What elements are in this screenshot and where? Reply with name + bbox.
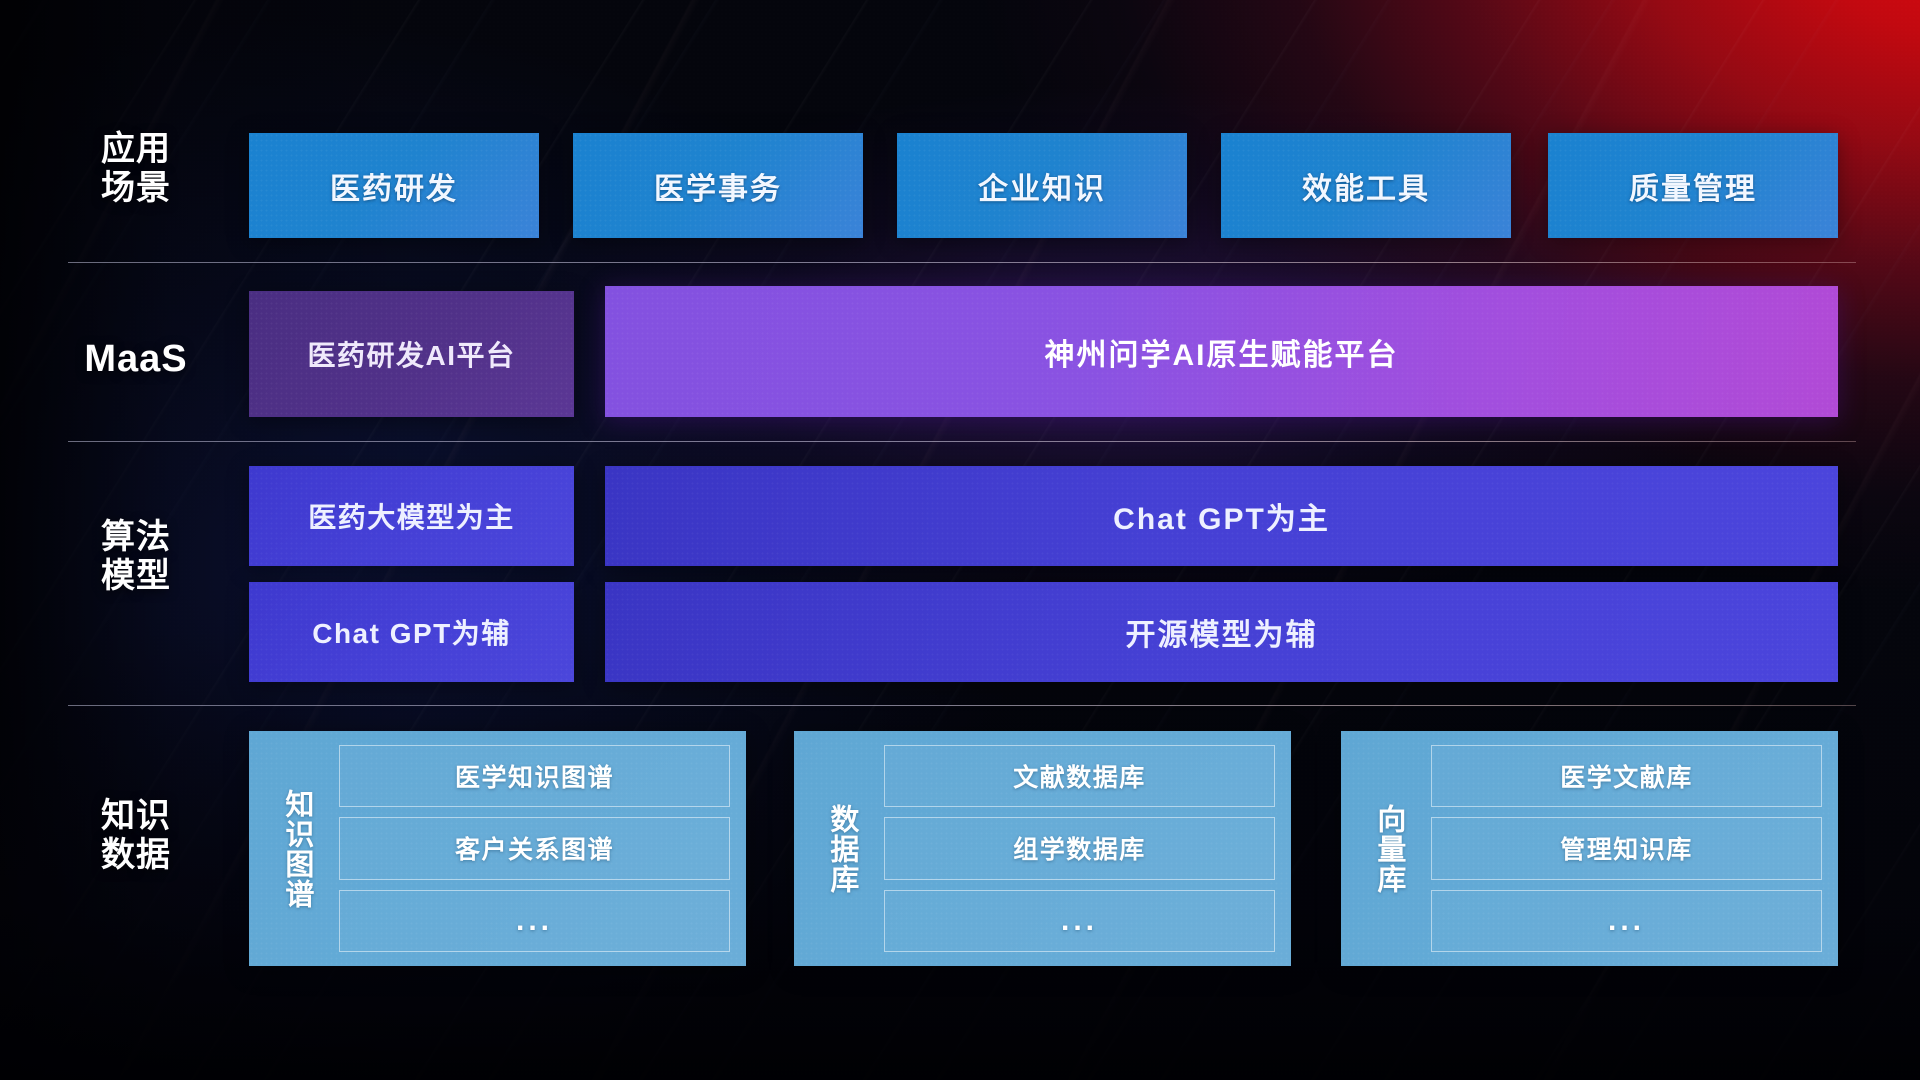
knowledge-item[interactable]: 组学数据库 <box>884 817 1275 879</box>
row-label-application-scenario: 应用 场景 <box>68 130 204 209</box>
knowledge-group-items-knowledge-graph: 医学知识图谱 客户关系图谱 ... <box>329 745 730 952</box>
knowledge-item[interactable]: 客户关系图谱 <box>339 817 730 879</box>
algorithm-label-chatgpt-secondary: Chat GPT为辅 <box>312 612 511 652</box>
algorithm-box-opensource-secondary[interactable]: 开源模型为辅 <box>605 582 1838 682</box>
maas-platform-label-pharma: 医药研发AI平台 <box>307 334 515 374</box>
divider-after-maas <box>68 441 1856 442</box>
algorithm-box-chatgpt-secondary[interactable]: Chat GPT为辅 <box>249 582 574 682</box>
app-scenario-box-3[interactable]: 企业知识 <box>897 133 1187 238</box>
divider-after-application-scenario <box>68 262 1856 263</box>
knowledge-group-items-vector-store: 医学文献库 管理知识库 ... <box>1421 745 1822 952</box>
algorithm-box-chatgpt-primary[interactable]: Chat GPT为主 <box>605 466 1838 566</box>
row-label-algorithm-model: 算法 模型 <box>68 518 204 597</box>
diagram-canvas: 应用 场景 医药研发 医学事务 企业知识 效能工具 质量管理 MaaS 医药研发… <box>0 0 1920 1080</box>
app-scenario-box-2[interactable]: 医学事务 <box>573 133 863 238</box>
knowledge-item[interactable]: 文献数据库 <box>884 745 1275 807</box>
maas-platform-label-shenzhou: 神州问学AI原生赋能平台 <box>1045 330 1399 374</box>
app-scenario-box-1[interactable]: 医药研发 <box>249 133 539 238</box>
app-scenario-label-5: 质量管理 <box>1629 164 1757 208</box>
row-label-knowledge-data: 知识 数据 <box>68 797 204 876</box>
knowledge-group-vector-store[interactable]: 向量库 医学文献库 管理知识库 ... <box>1341 731 1838 966</box>
app-scenario-label-2: 医学事务 <box>654 164 782 208</box>
knowledge-group-knowledge-graph[interactable]: 知识图谱 医学知识图谱 客户关系图谱 ... <box>249 731 746 966</box>
row-label-maas: MaaS <box>68 337 204 381</box>
knowledge-group-title-vector-store: 向量库 <box>1355 745 1421 952</box>
maas-platform-box-pharma[interactable]: 医药研发AI平台 <box>249 291 574 417</box>
divider-after-algorithm-model <box>68 705 1856 706</box>
app-scenario-label-4: 效能工具 <box>1302 164 1430 208</box>
algorithm-box-pharma-primary[interactable]: 医药大模型为主 <box>249 466 574 566</box>
knowledge-item-more[interactable]: ... <box>1431 890 1822 952</box>
maas-platform-box-shenzhou[interactable]: 神州问学AI原生赋能平台 <box>605 286 1838 417</box>
app-scenario-box-4[interactable]: 效能工具 <box>1221 133 1511 238</box>
knowledge-group-title-database: 数据库 <box>808 745 874 952</box>
algorithm-label-pharma-primary: 医药大模型为主 <box>308 496 515 536</box>
app-scenario-box-5[interactable]: 质量管理 <box>1548 133 1838 238</box>
knowledge-group-items-database: 文献数据库 组学数据库 ... <box>874 745 1275 952</box>
knowledge-item[interactable]: 管理知识库 <box>1431 817 1822 879</box>
knowledge-item-more[interactable]: ... <box>339 890 730 952</box>
knowledge-item[interactable]: 医学知识图谱 <box>339 745 730 807</box>
knowledge-item-more[interactable]: ... <box>884 890 1275 952</box>
knowledge-group-database[interactable]: 数据库 文献数据库 组学数据库 ... <box>794 731 1291 966</box>
algorithm-label-opensource-secondary: 开源模型为辅 <box>1126 610 1318 654</box>
algorithm-label-chatgpt-primary: Chat GPT为主 <box>1113 494 1330 538</box>
knowledge-group-title-knowledge-graph: 知识图谱 <box>263 745 329 952</box>
app-scenario-label-1: 医药研发 <box>330 164 458 208</box>
knowledge-item[interactable]: 医学文献库 <box>1431 745 1822 807</box>
app-scenario-label-3: 企业知识 <box>978 164 1106 208</box>
